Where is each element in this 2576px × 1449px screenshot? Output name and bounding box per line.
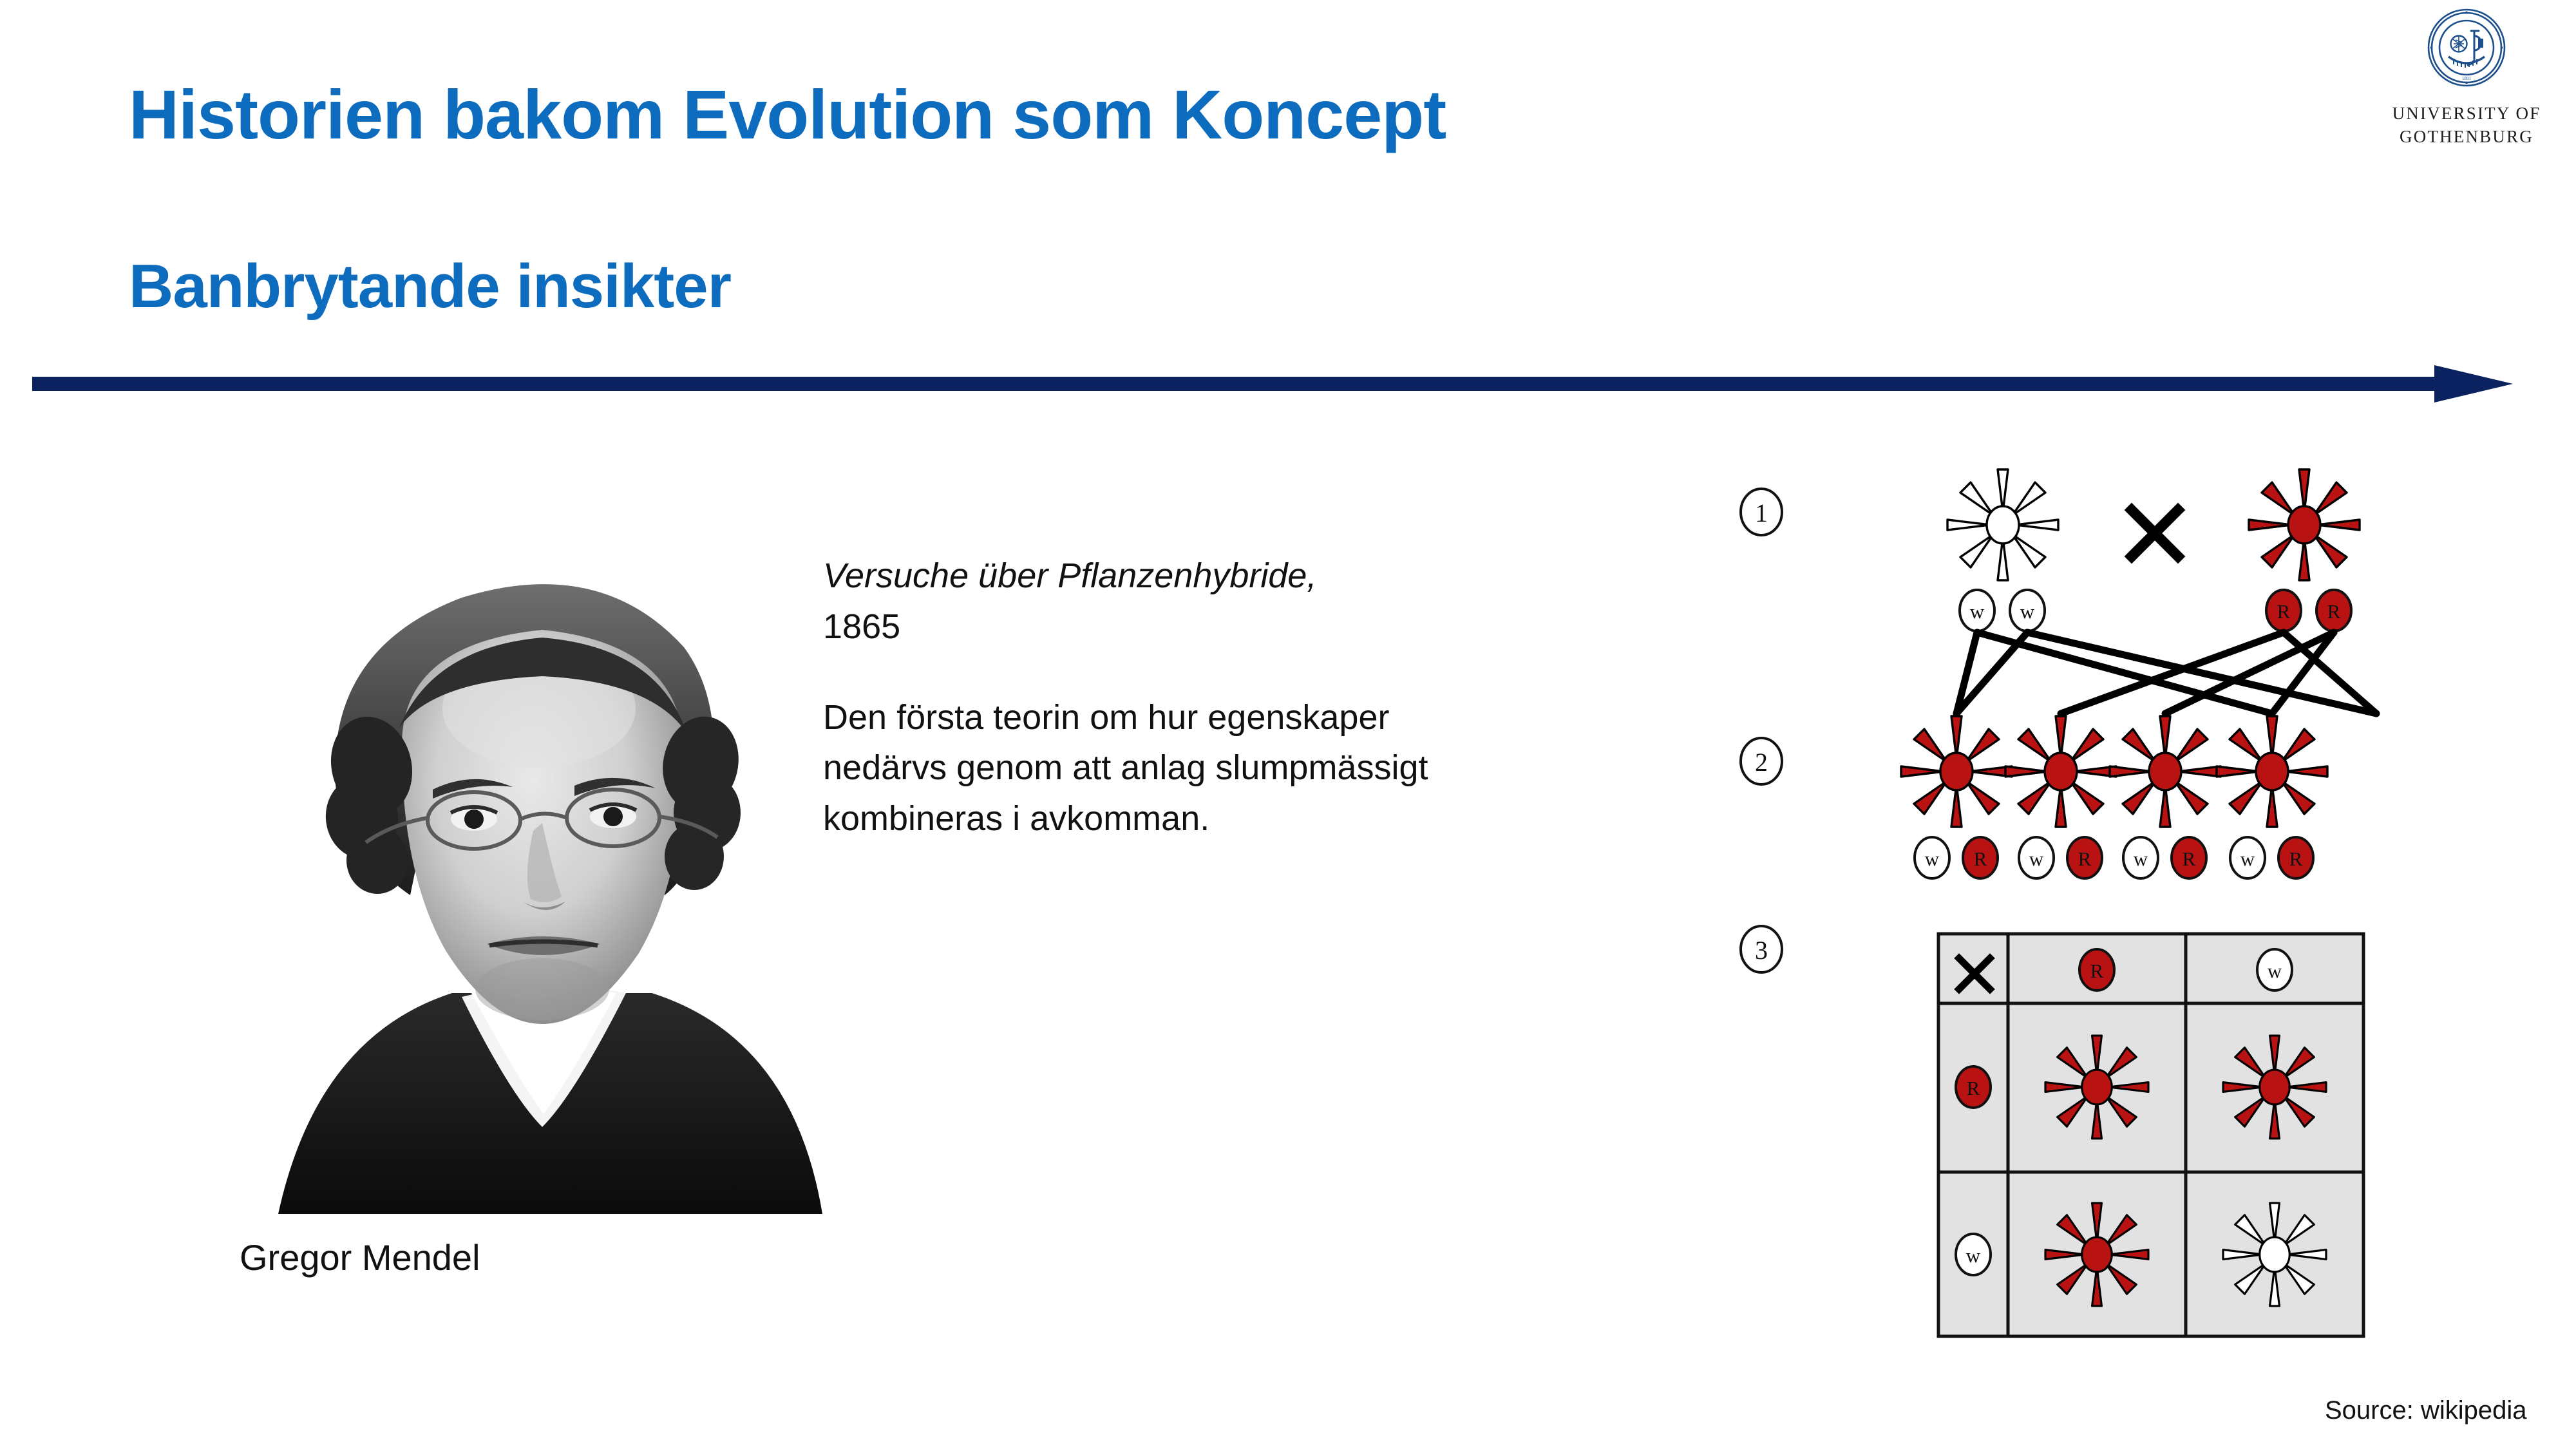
svg-text:R: R xyxy=(1967,1077,1980,1099)
allele-r-right-1: R xyxy=(2266,590,2301,631)
svg-text:2: 2 xyxy=(1755,748,1768,777)
university-logo: 1891 UNIVERSITY OF GOTHENBURG xyxy=(2383,6,2550,148)
generation2-offspring-3 xyxy=(2110,716,2221,827)
svg-text:R: R xyxy=(2277,600,2291,623)
paragraph-line-3: kombineras i avkomman. xyxy=(823,793,1660,844)
work-title: Versuche über Pflanzenhybride, xyxy=(823,551,1660,601)
svg-text:w: w xyxy=(2240,848,2255,870)
svg-text:R: R xyxy=(1974,848,1987,870)
gen2-allele-pair-3: w R xyxy=(2123,837,2206,878)
portrait-caption: Gregor Mendel xyxy=(240,1236,480,1278)
generation1-parent-red xyxy=(2249,469,2360,580)
generation2-offspring-2 xyxy=(2005,716,2116,827)
logo-line-2: GOTHENBURG xyxy=(2383,126,2550,149)
page-title: Historien bakom Evolution som Koncept xyxy=(129,74,1446,155)
svg-text:R: R xyxy=(2078,848,2092,870)
svg-text:R: R xyxy=(2183,848,2196,870)
page-subtitle: Banbrytande insikter xyxy=(129,251,731,322)
svg-text:w: w xyxy=(1925,848,1940,870)
step-marker-2: 2 xyxy=(1741,738,1782,784)
work-year: 1865 xyxy=(823,601,1660,652)
source-note: Source: wikipedia xyxy=(2325,1396,2527,1425)
svg-text:w: w xyxy=(2020,600,2035,623)
svg-text:1891: 1891 xyxy=(2462,76,2472,81)
step-marker-3: 3 xyxy=(1741,926,1782,972)
inheritance-lines xyxy=(1956,632,2376,714)
divider-arrow xyxy=(26,357,2537,415)
body-text-block: Versuche über Pflanzenhybride, 1865 Den … xyxy=(823,551,1660,844)
punnett-col-header-w: w xyxy=(2257,949,2292,990)
logo-line-1: UNIVERSITY OF xyxy=(2383,102,2550,126)
mendel-inheritance-diagram: 1 2 3 w xyxy=(1732,464,2550,1365)
generation2-offspring-1 xyxy=(1901,716,2012,827)
step-marker-1: 1 xyxy=(1741,489,1782,535)
svg-text:w: w xyxy=(2029,848,2044,870)
svg-text:w: w xyxy=(2134,848,2148,870)
punnett-row-header-R: R xyxy=(1956,1066,1991,1108)
paragraph-line-1: Den första teorin om hur egenskaper xyxy=(823,692,1660,743)
allele-w-left-1: w xyxy=(1960,590,1994,631)
svg-text:R: R xyxy=(2327,600,2341,623)
paragraph-spacer xyxy=(823,652,1660,692)
gregor-mendel-portrait xyxy=(240,515,851,1214)
generation1-parent-white xyxy=(1947,469,2058,580)
svg-text:1: 1 xyxy=(1755,498,1768,527)
allele-r-right-2: R xyxy=(2316,590,2351,631)
svg-text:3: 3 xyxy=(1755,936,1768,965)
generation2-offspring-4 xyxy=(2217,716,2327,827)
svg-text:w: w xyxy=(1970,600,1985,623)
punnett-square: R w R w xyxy=(1938,934,2363,1336)
university-seal-icon: 1891 xyxy=(2383,6,2550,92)
gen2-allele-pair-1: w R xyxy=(1915,837,1998,878)
university-wordmark: UNIVERSITY OF GOTHENBURG xyxy=(2383,102,2550,148)
slide-canvas: Historien bakom Evolution som Koncept Ba… xyxy=(0,0,2576,1449)
svg-text:R: R xyxy=(2289,848,2303,870)
allele-w-left-2: w xyxy=(2010,590,2045,631)
gen2-allele-pair-2: w R xyxy=(2019,837,2102,878)
svg-text:R: R xyxy=(2090,960,2104,982)
gen2-allele-pair-4: w R xyxy=(2230,837,2313,878)
punnett-row-header-w: w xyxy=(1956,1234,1991,1275)
svg-text:w: w xyxy=(1966,1244,1981,1267)
punnett-col-header-R: R xyxy=(2079,949,2114,990)
paragraph-line-2: nedärvs genom att anlag slumpmässigt xyxy=(823,743,1660,793)
cross-symbol-gen1 xyxy=(2132,510,2178,556)
svg-text:w: w xyxy=(2268,960,2282,982)
